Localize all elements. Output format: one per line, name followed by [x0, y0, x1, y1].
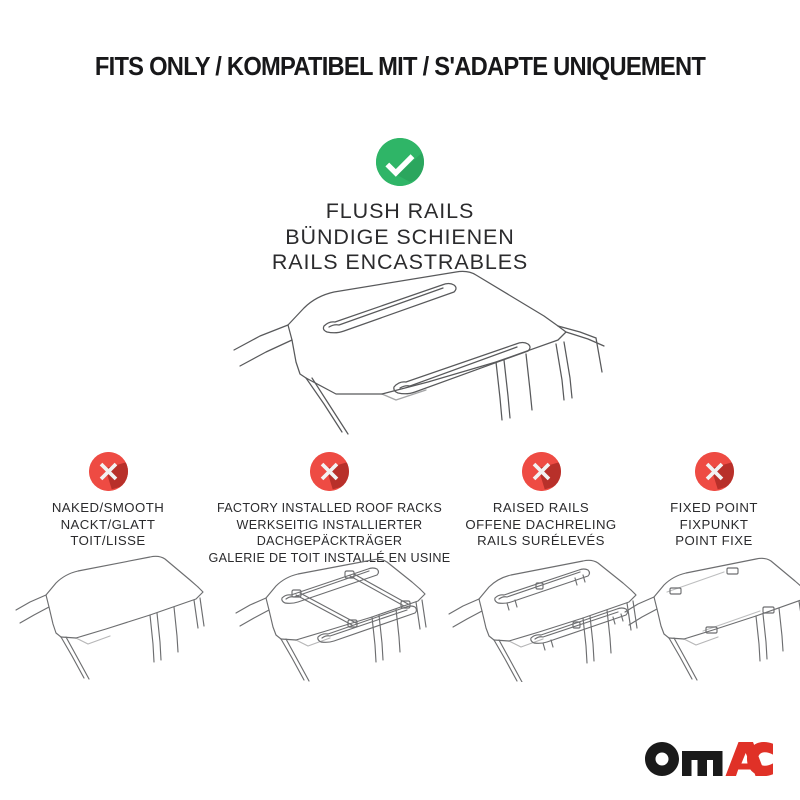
hero-badge-wrap: [0, 138, 800, 186]
caption-line-1: FACTORY INSTALLED ROOF RACKS: [203, 500, 456, 517]
caption-line-2: NACKT/GLATT: [8, 517, 208, 534]
badge-wrap-raised-rails: [442, 452, 640, 491]
car-roof-flush-rails-illustration: [196, 268, 620, 440]
badge-wrap-factory-roof-racks: [203, 452, 456, 491]
caption-line-3: TOIT/LISSE: [8, 533, 208, 550]
column-raised-rails: RAISED RAILS OFFENE DACHRELING RAILS SUR…: [442, 452, 640, 550]
caption-raised-rails: RAISED RAILS OFFENE DACHRELING RAILS SUR…: [442, 500, 640, 550]
hero-caption: FLUSH RAILS BÜNDIGE SCHIENEN RAILS ENCAS…: [0, 199, 800, 276]
column-factory-roof-racks: FACTORY INSTALLED ROOF RACKS WERKSEITIG …: [203, 452, 456, 566]
car-roof-raised-rails-illustration: [443, 550, 639, 682]
car-roof-naked-illustration: [10, 550, 206, 682]
badge-wrap-fixed-point: [628, 452, 800, 491]
car-roof-fixed-point-illustration: [620, 550, 800, 682]
x-circle-icon: [522, 452, 561, 491]
badge-wrap-naked-smooth: [8, 452, 208, 491]
caption-fixed-point: FIXED POINT FIXPUNKT POINT FIXE: [628, 500, 800, 550]
caption-line-2: OFFENE DACHRELING: [442, 517, 640, 534]
caption-line-3: POINT FIXE: [628, 533, 800, 550]
column-fixed-point: FIXED POINT FIXPUNKT POINT FIXE: [628, 452, 800, 550]
hero-caption-line-1: FLUSH RAILS: [0, 199, 800, 225]
car-roof-factory-racks-illustration: [226, 548, 434, 682]
x-circle-icon: [89, 452, 128, 491]
caption-line-1: RAISED RAILS: [442, 500, 640, 517]
compatible-section: FLUSH RAILS BÜNDIGE SCHIENEN RAILS ENCAS…: [0, 138, 800, 276]
incompatible-section: NAKED/SMOOTH NACKT/GLATT TOIT/LISSE: [0, 452, 800, 692]
hero-caption-line-2: BÜNDIGE SCHIENEN: [0, 225, 800, 251]
compatibility-infographic: FITS ONLY / KOMPATIBEL MIT / S'ADAPTE UN…: [0, 0, 800, 800]
caption-line-1: FIXED POINT: [628, 500, 800, 517]
omac-logo-mark: [645, 742, 773, 776]
x-circle-icon: [310, 452, 349, 491]
caption-line-2: FIXPUNKT: [628, 517, 800, 534]
check-circle-icon: [376, 138, 424, 186]
caption-line-3: RAILS SURÉLEVÉS: [442, 533, 640, 550]
page-title: FITS ONLY / KOMPATIBEL MIT / S'ADAPTE UN…: [28, 52, 772, 82]
caption-line-1: NAKED/SMOOTH: [8, 500, 208, 517]
column-naked-smooth: NAKED/SMOOTH NACKT/GLATT TOIT/LISSE: [8, 452, 208, 550]
caption-line-2: WERKSEITIG INSTALLIERTER: [203, 517, 456, 534]
omac-logo: [645, 742, 773, 776]
x-circle-icon: [695, 452, 734, 491]
caption-naked-smooth: NAKED/SMOOTH NACKT/GLATT TOIT/LISSE: [8, 500, 208, 550]
